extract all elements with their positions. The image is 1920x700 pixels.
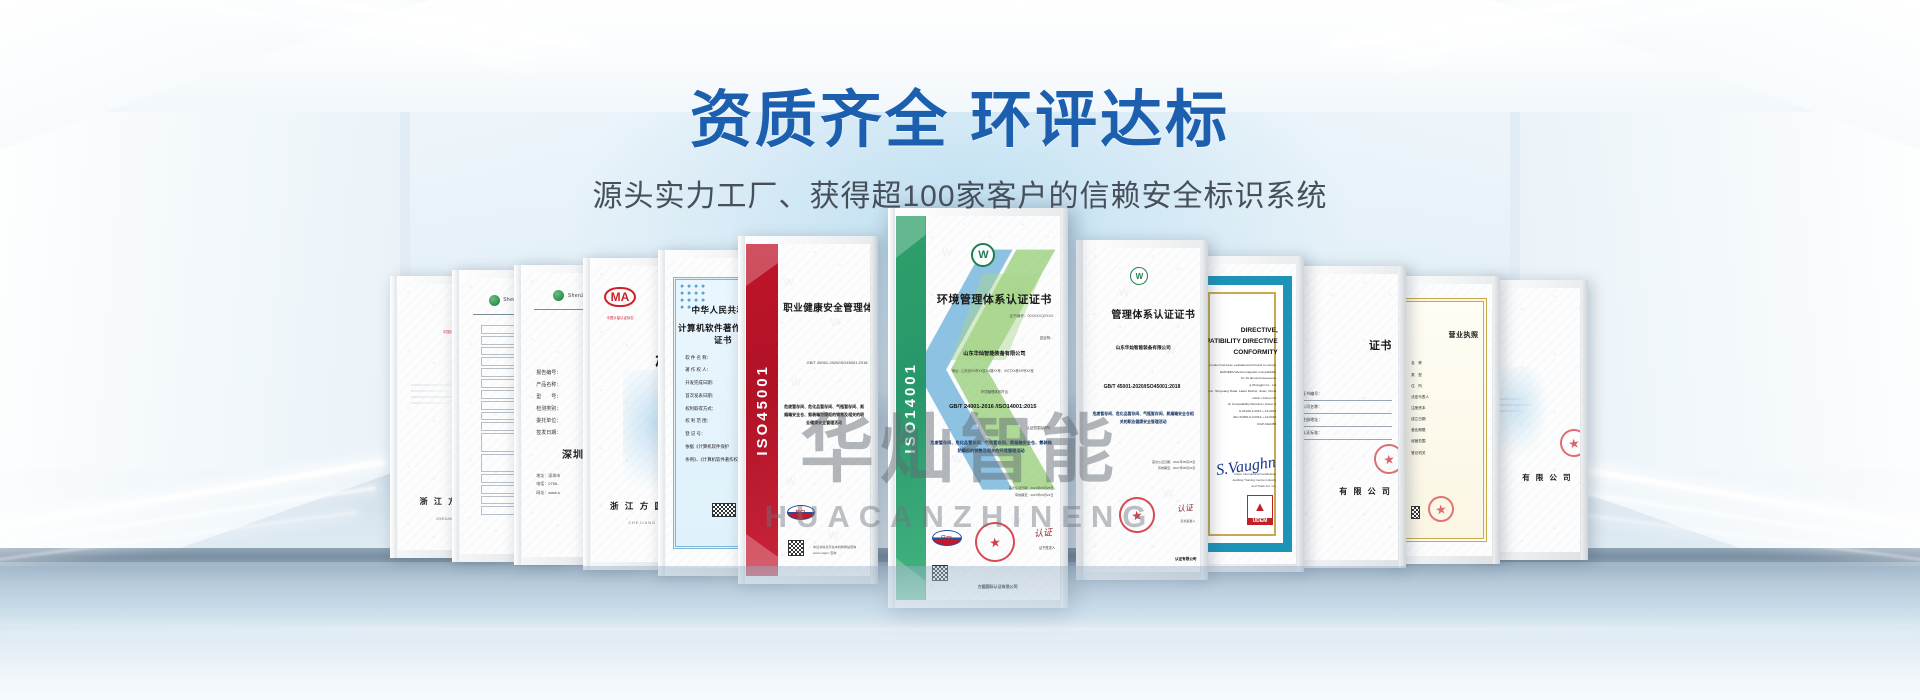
certificate-fields-11: 名 称 类 型 住 所 法定代表人 注册资本 成立日期 营业期限 经营范围 登记… [1411,358,1477,458]
date-row: 首次认证日期：2021年05月25日 [1105,459,1196,466]
certificate-frame-8[interactable]: WW WW W 管理体系认证证书 山东华灿智能装备有限公司 GB/T 45001… [1076,240,1208,580]
certificate-scope-label-7: 认证范围及场所： [962,425,1054,430]
certificate-frame-10[interactable]: 证书 证书编号： 公司名称： 注册地址： 认证标准： 有 限 公 司 ★ [1288,266,1406,568]
certificate-title-8: 管理体系认证证书 [1084,306,1195,321]
iso-spine-label: ISO45001 [754,364,771,456]
certificate-address-7: 地址：山东省XX市XX区XX路XX号，XX门XX栋XX号XX室 [932,368,1053,373]
certificate-scope-8: 危废暂存间、危化品暂存间、气瓶暂存间、氮烟箱安全仓相关的职业健康安全管理活动 [1091,410,1195,426]
certificate-standard-6: GB/T 45001-2020/ISO45001:2018 [783,360,867,365]
iso-spine-45001: ISO45001 [746,244,778,576]
signature-caption-7: 证书签发人 [998,545,1055,550]
certificate-company-label-7: 兹证明： [962,335,1054,340]
certificate-scope-6: 危废暂存间、危化品暂存间、气瓶暂存间、氮烟箱安全仓、氨装箱防爆柜的销售及相关的职… [783,403,865,426]
hero-text-block: 资质齐全 环评达标 源头实力工厂、获得超100家客户的信赖安全标识系统 [0,86,1920,215]
certificate-paper-6: WW WW WW ISO45001 职业健康安全管理体系认证证书 GB/T 45… [746,244,870,576]
field-row: 名 称 [1411,358,1477,369]
certificate-body-lines-12 [1499,394,1542,416]
signature-caption-8: 证书签发人 [1151,519,1195,523]
certificate-paper-10: 证书 证书编号： 公司名称： 注册地址： 认证标准： 有 限 公 司 ★ [1296,274,1398,560]
field-row: 认证标准： [1302,427,1392,440]
certificate-paper-7: WW WW WW ISO14001 W 环境管理体系认证证书 证书编号：00XX… [896,216,1060,600]
qr-code-7 [932,565,948,581]
ma-badge-caption-4: 中国计量认证标志 [595,315,645,320]
certificate-standard-8: GB/T 45001-2020/ISO45001:2018 [1089,384,1196,390]
field-row: 法定代表人 [1411,392,1477,403]
field-row: 注册地址： [1302,414,1392,427]
certificate-smalltext-6: 本证书信息可在本机构网站查询 www.mlqjcn 查询 [813,545,866,556]
ma-badge-icon-4: MA [604,287,636,307]
certificate-frame-6[interactable]: WW WW WW ISO45001 职业健康安全管理体系认证证书 GB/T 45… [738,236,878,584]
certificate-scope-7: 危废暂存间、危化品暂存间、气瓶暂存间、氮烟箱安全仓、氨装箱防爆柜的销售及相关的环… [929,439,1054,456]
field-row: 公司名称： [1302,401,1392,414]
iso-spine-label: ISO14001 [902,362,919,454]
certificate-company-7: 山东华灿智能装备有限公司 [935,350,1053,357]
field-row: 经营范围 [1411,436,1477,447]
udem-badge-icon: ▲ UDEM [1247,495,1273,525]
certificate-paper-12: 有 限 公 司 ★ [1486,288,1580,552]
field-row: 住 所 [1411,381,1477,392]
certificate-issuer-7: 方圆国际认证有限公司 [942,584,1054,590]
signature-7: 认证 [1033,525,1052,540]
page-title: 资质齐全 环评达标 [0,86,1920,155]
field-row: 注册资本 [1411,403,1477,414]
certificate-paper-11: 营业执照 名 称 类 型 住 所 法定代表人 注册资本 成立日期 营业期限 经营… [1396,284,1492,556]
field-row: 类 型 [1411,370,1477,381]
field-row: 成立日期 [1411,414,1477,425]
field-row: 登记机关 [1411,448,1477,459]
inspection-body-logo-icon-3 [553,290,564,301]
inspection-body-logo-icon [489,295,500,306]
field-row: 营业期限 [1411,425,1477,436]
certificate-frame-7[interactable]: WW WW WW ISO14001 W 环境管理体系认证证书 证书编号：00XX… [888,208,1068,608]
certificate-title-6: 职业健康安全管理体系认证证书 [783,300,870,314]
qr-code-6 [788,540,804,556]
page-subtitle: 源头实力工厂、获得超100家客户的信赖安全标识系统 [0,171,1920,215]
certificate-title-11: 营业执照 [1396,330,1479,340]
signature-caption-9: Udem International CertificationAuditing… [1209,471,1276,489]
certificate-title-10: 证书 [1296,337,1392,353]
qr-code-5 [712,503,736,517]
cnas-mark-icon-6: 日CL [787,505,815,520]
date-row: 首次认证日期：2021年05月25日 [962,485,1054,492]
ornate-border-11: 营业执照 名 称 类 型 住 所 法定代表人 注册资本 成立日期 营业期限 经营… [1401,298,1487,543]
certificate-issuer-8: 认证有限公司 [1130,557,1196,562]
date-row: 有效期至：2027年05月24日 [1105,465,1196,472]
udem-badge-label: UDEM [1248,518,1272,524]
official-red-seal-icon-11: ★ [1427,494,1456,523]
iso-spine-14001: ISO14001 [896,216,926,600]
seal-star-icon: ★ [1130,508,1143,522]
seal-star-icon: ★ [1435,502,1448,516]
signature-8: 认证 [1177,502,1194,515]
certificate-standard-7: GB/T 24001-2016 /ISO14001:2015 [932,404,1053,410]
certificate-footer-10: 有 限 公 司 [1296,486,1392,497]
seal-star-icon: ★ [1382,452,1395,466]
certificate-dates-7: 首次认证日期：2021年05月25日 有效期至：2027年05月24日 [962,485,1054,499]
seal-star-icon: ★ [1567,436,1580,450]
certificate-company-8: 山东华灿智能装备有限公司 [1091,345,1195,351]
certificate-dates-8: 首次认证日期：2021年05月25日 有效期至：2027年05月24日 [1105,459,1196,473]
certificate-standard-label-7: 环境管理体系符合 [935,389,1053,394]
certificate-paper-8: WW WW W 管理体系认证证书 山东华灿智能装备有限公司 GB/T 45001… [1084,248,1200,572]
certificate-number-7: 证书编号：00XXXXQXXXX [962,314,1054,319]
qr-code-11 [1411,506,1420,519]
date-row: 有效期至：2027年05月24日 [962,492,1054,499]
certificate-fields-10: 证书编号： 公司名称： 注册地址： 认证标准： [1302,388,1392,440]
certificate-title-7: 环境管理体系认证证书 [932,291,1057,307]
field-row: 证书编号： [1302,388,1392,401]
